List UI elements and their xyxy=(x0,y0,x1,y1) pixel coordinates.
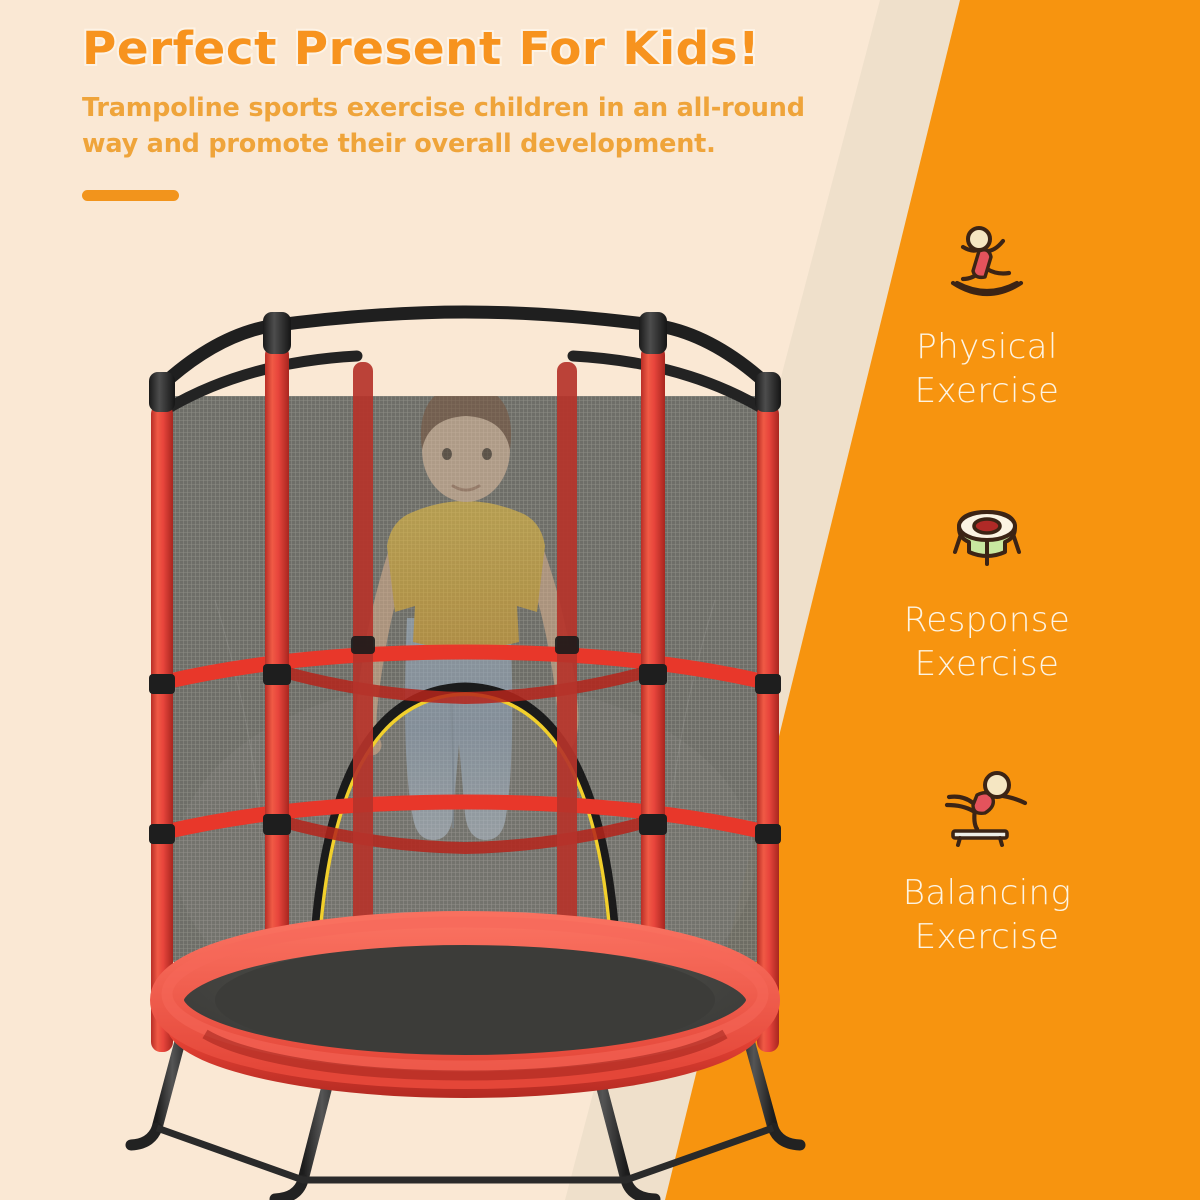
black-pole-cap xyxy=(149,372,175,412)
balancing-exercise-icon xyxy=(852,768,1122,850)
top-rail xyxy=(161,312,769,410)
feature-response-exercise[interactable]: Response Exercise xyxy=(852,495,1122,686)
feature-label: Response Exercise xyxy=(852,599,1122,686)
black-pole-cap xyxy=(755,372,781,412)
physical-exercise-icon xyxy=(852,222,1122,304)
feature-label: Balancing Exercise xyxy=(852,872,1122,959)
response-exercise-icon xyxy=(852,495,1122,577)
black-pole-cap xyxy=(263,312,291,354)
page-title: Perfect Present For Kids! xyxy=(82,24,904,74)
feature-list: Physical Exercise Response Exercise xyxy=(852,222,1122,959)
feature-physical-exercise[interactable]: Physical Exercise xyxy=(852,222,1122,413)
feature-label: Physical Exercise xyxy=(852,326,1122,413)
product-image xyxy=(95,300,835,1200)
poster-canvas: Perfect Present For Kids! Trampoline spo… xyxy=(0,0,1200,1200)
header-block: Perfect Present For Kids! Trampoline spo… xyxy=(82,24,872,162)
black-pole-cap xyxy=(639,312,667,354)
feature-balancing-exercise[interactable]: Balancing Exercise xyxy=(852,768,1122,959)
accent-underline-bar xyxy=(82,190,179,201)
trampoline-base xyxy=(167,922,763,1098)
page-subtitle: Trampoline sports exercise children in a… xyxy=(82,90,827,162)
